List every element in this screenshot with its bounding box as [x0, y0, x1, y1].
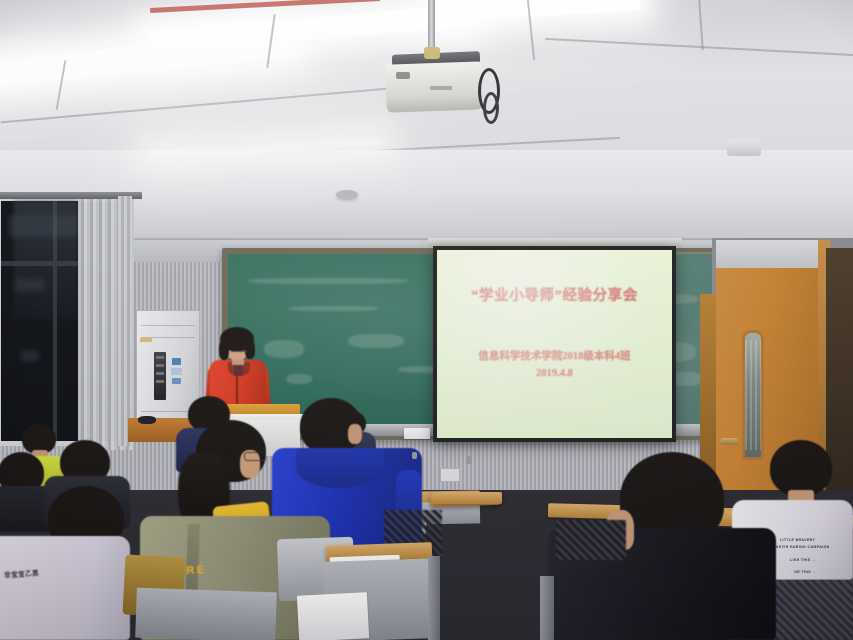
- slide-subtitle-line2: 2019.4.8: [437, 365, 672, 382]
- panel-switch[interactable]: [156, 372, 164, 375]
- classroom-photo: “学业小导师”经验分享会 信息科学技术学院2018级本科4班 2019.4.8: [0, 0, 853, 640]
- doorway-dark-gap: [826, 248, 853, 490]
- window-reflection: [21, 351, 39, 361]
- projector-cable: [483, 92, 499, 124]
- desk-leg: [540, 576, 554, 640]
- panel-switch[interactable]: [156, 364, 164, 367]
- student-head: [770, 440, 832, 496]
- tshirt-print-line3: LIKE THIS →: [790, 558, 816, 563]
- panel-sticker: [171, 368, 182, 375]
- slide-subtitle-line1: 信息科学技术学院2018级本科4班: [437, 348, 672, 365]
- door-window-bars: [745, 340, 761, 450]
- slide-subtitle: 信息科学技术学院2018级本科4班 2019.4.8: [437, 348, 672, 382]
- window-shadow: [14, 200, 78, 320]
- panel-label-tag: [140, 338, 152, 342]
- mesh-bag-left: [556, 520, 626, 560]
- presenter-inner-shirt: [234, 364, 243, 376]
- screen-glare: [437, 250, 672, 438]
- projector-lens-icon: [396, 72, 410, 79]
- desk-object-dark: [138, 416, 156, 424]
- smoke-detector-icon: [336, 190, 358, 199]
- door-handle[interactable]: [720, 438, 738, 445]
- wall-outlet-plate[interactable]: [440, 468, 460, 482]
- panel-sticker-blue: [172, 378, 181, 384]
- curtain-edge: [118, 196, 132, 446]
- wall-hook: [466, 456, 472, 464]
- glasses-icon: [244, 452, 266, 461]
- hoodie-hood: [296, 448, 384, 488]
- desk-row-shelf: [432, 492, 502, 504]
- notebook[interactable]: [297, 592, 369, 640]
- panel-breaker-strip[interactable]: [154, 352, 166, 400]
- chalk-eraser[interactable]: [404, 428, 430, 439]
- presenter-hair-side: [219, 340, 229, 360]
- desk-leg: [428, 556, 440, 640]
- door-transom: [716, 240, 822, 268]
- tshirt-print-line4: OR THIS →: [794, 570, 816, 575]
- student-white-shirt: [0, 536, 130, 640]
- ceiling-vent: [727, 139, 761, 156]
- wall-hook: [412, 452, 417, 459]
- projector-vent: [430, 86, 452, 90]
- student-ear: [348, 424, 362, 444]
- slide-title: “学业小导师”经验分享会: [437, 284, 672, 305]
- projector-bolt: [424, 47, 440, 59]
- panel-switch[interactable]: [156, 380, 164, 383]
- panel-switch[interactable]: [156, 356, 164, 359]
- panel-sticker-blue: [172, 358, 181, 365]
- projection-screen: “学业小导师”经验分享会 信息科学技术学院2018级本科4班 2019.4.8: [437, 250, 672, 438]
- tshirt-print-line2: KEITH HARING CAMPAIGN: [776, 545, 830, 550]
- presenter-glasses-icon: [231, 347, 248, 352]
- desk-front-panel: [135, 588, 277, 640]
- tshirt-print-line1: LITTLE BRAVERY: [780, 538, 815, 543]
